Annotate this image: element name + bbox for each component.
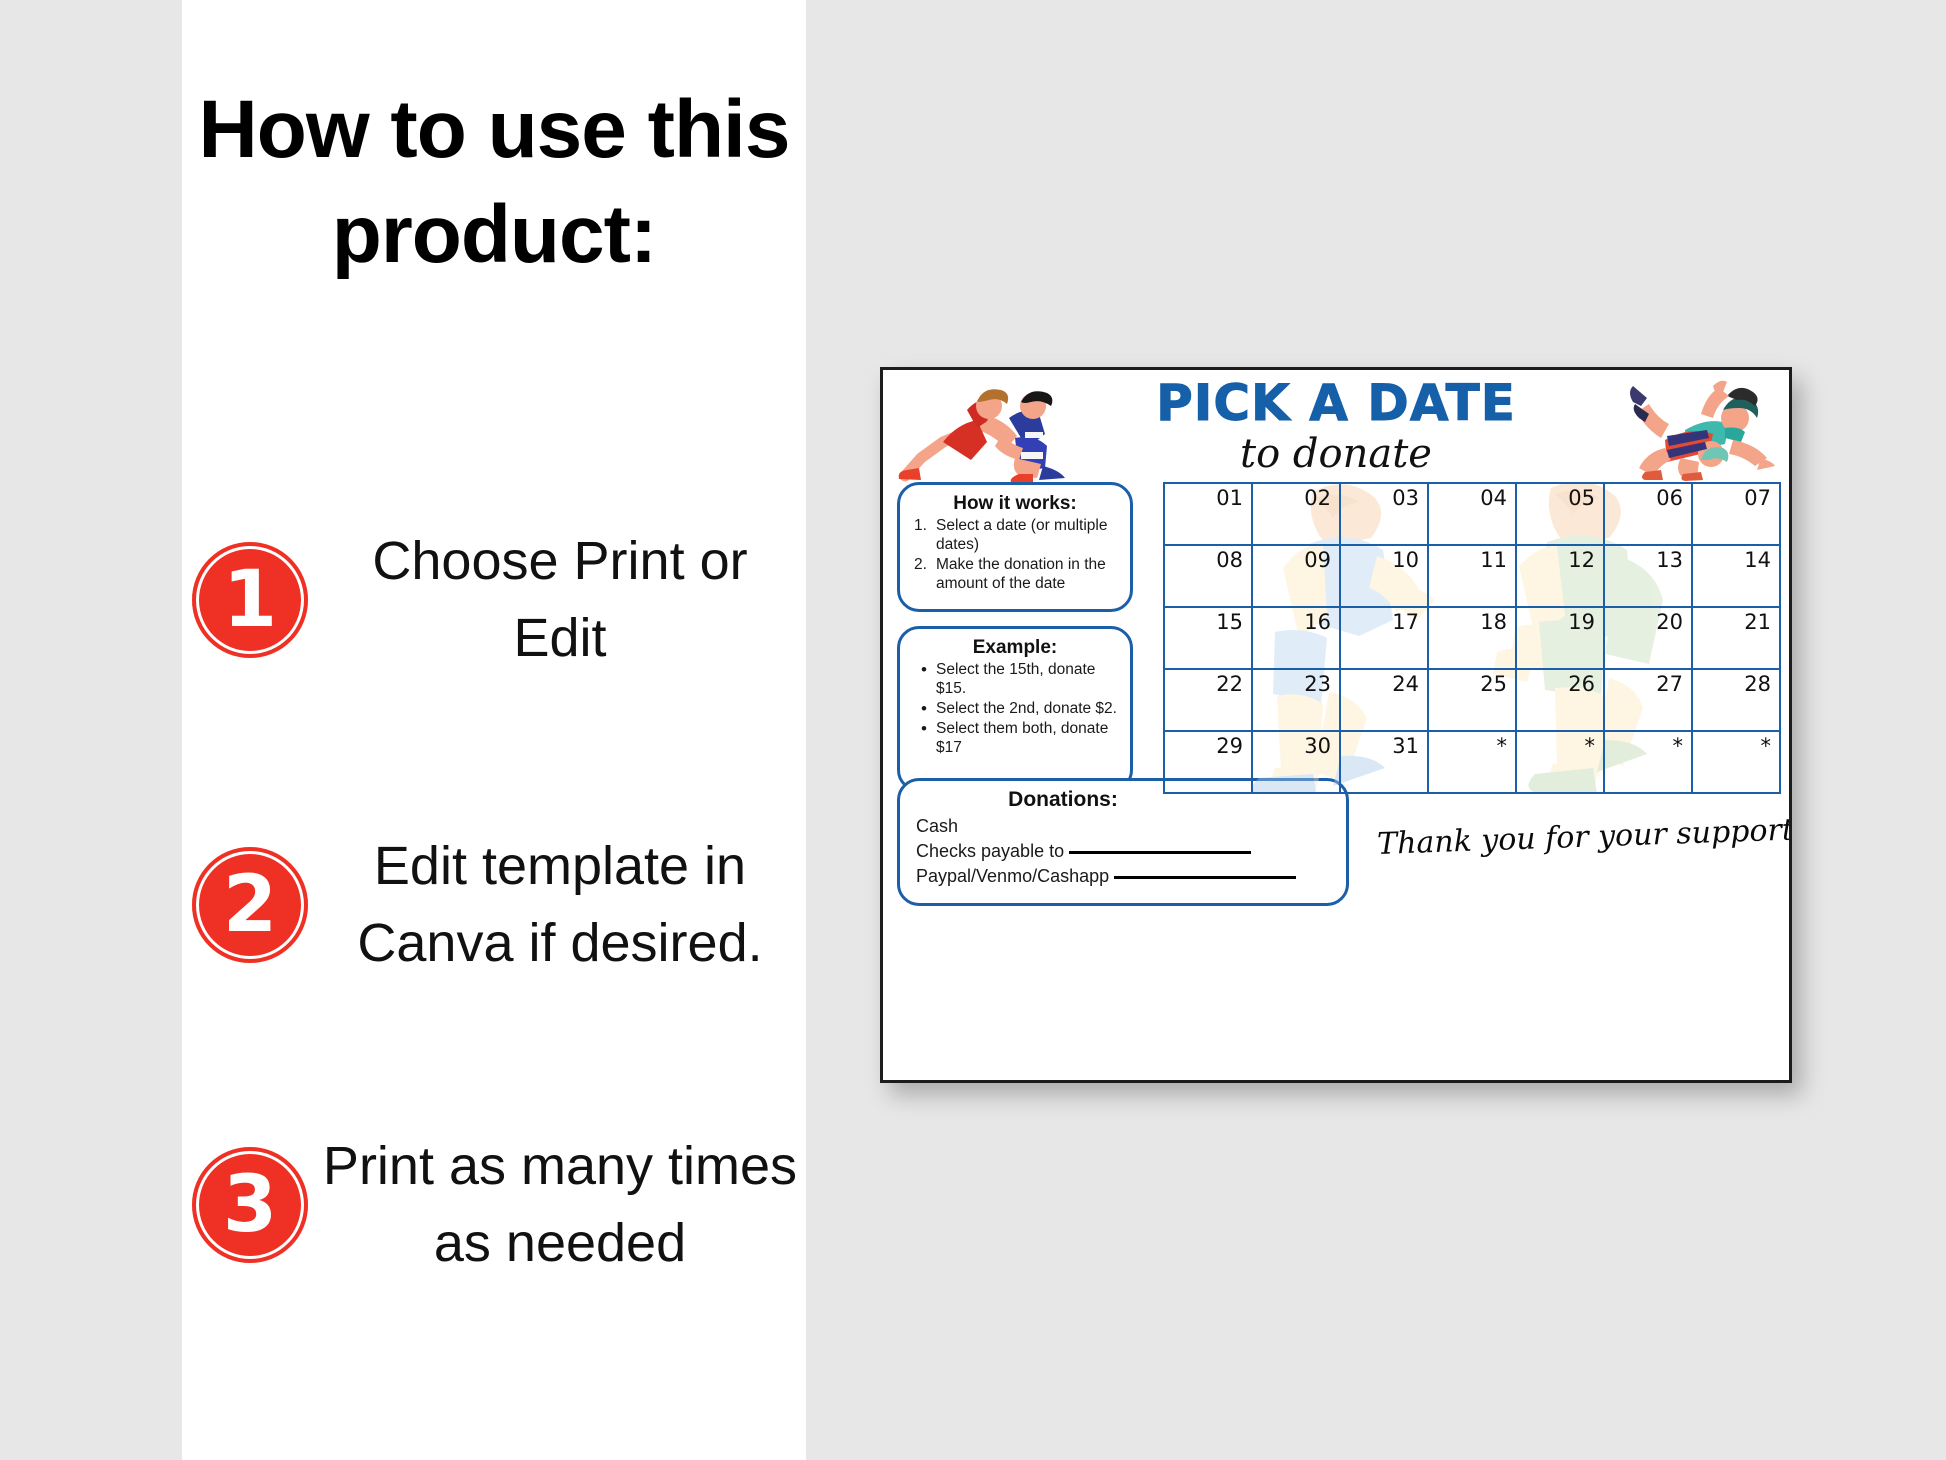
step-number-badge-3: 3 <box>192 1147 308 1263</box>
instruction-step-2: 2 Edit template in Canva if desired. <box>182 760 806 1050</box>
digital-label: Paypal/Venmo/Cashapp <box>916 866 1109 886</box>
list-text: Select a date (or multiple dates) <box>936 517 1107 553</box>
example-list: • Select the 15th, donate $15. • Select … <box>912 661 1118 758</box>
list-marker: • <box>921 699 927 720</box>
calendar-cell[interactable]: 08 <box>1165 546 1253 608</box>
thank-you-message: Thank you for your support! <box>1377 813 1778 862</box>
calendar-cell[interactable]: 26 <box>1517 670 1605 732</box>
how-it-works-box: How it works: 1. Select a date (or multi… <box>897 482 1133 612</box>
calendar-cell[interactable]: 27 <box>1605 670 1693 732</box>
step-text-3: Print as many times as needed <box>308 1128 806 1281</box>
calendar-cell[interactable]: 07 <box>1693 484 1781 546</box>
calendar-cell[interactable]: 05 <box>1517 484 1605 546</box>
list-item: • Select them both, donate $17 <box>912 720 1118 758</box>
list-marker: • <box>921 660 927 681</box>
checks-blank-line[interactable] <box>1069 851 1251 854</box>
calendar-cell[interactable]: 18 <box>1429 608 1517 670</box>
list-marker: 2. <box>914 556 927 575</box>
calendar-cell[interactable]: 29 <box>1165 732 1253 794</box>
calendar-cell[interactable]: 22 <box>1165 670 1253 732</box>
how-it-works-list: 1. Select a date (or multiple dates) 2. … <box>912 517 1118 594</box>
step-text-1: Choose Print or Edit <box>308 523 806 676</box>
calendar-cell[interactable]: 11 <box>1429 546 1517 608</box>
calendar-cell[interactable]: 10 <box>1341 546 1429 608</box>
calendar-cell[interactable]: 12 <box>1517 546 1605 608</box>
calendar-cell[interactable]: 06 <box>1605 484 1693 546</box>
calendar-cell[interactable]: 04 <box>1429 484 1517 546</box>
list-text: Select the 2nd, donate $2. <box>936 700 1117 717</box>
flyer-footer: Donations: Cash Checks payable to Paypal… <box>883 772 1789 944</box>
list-item: 2. Make the donation in the amount of th… <box>912 556 1118 594</box>
step-number-badge-2: 2 <box>192 847 308 963</box>
calendar-cell[interactable]: * <box>1605 732 1693 794</box>
calendar-cell[interactable]: 19 <box>1517 608 1605 670</box>
donation-calendar-grid[interactable]: 01 02 03 04 05 06 07 08 09 10 11 12 13 1… <box>1163 482 1781 794</box>
donation-method-digital: Paypal/Venmo/Cashapp <box>916 866 1330 887</box>
wrestlers-throw-icon <box>1629 378 1781 487</box>
donation-method-checks: Checks payable to <box>916 841 1330 862</box>
calendar-cell[interactable]: 20 <box>1605 608 1693 670</box>
list-text: Select the 15th, donate $15. <box>936 661 1095 697</box>
instruction-step-1: 1 Choose Print or Edit <box>182 500 806 700</box>
calendar-cell[interactable]: 15 <box>1165 608 1253 670</box>
calendar-cell[interactable]: * <box>1693 732 1781 794</box>
calendar-cell[interactable]: 25 <box>1429 670 1517 732</box>
calendar-cell[interactable]: 30 <box>1253 732 1341 794</box>
flyer-subtitle: to donate <box>1126 432 1546 476</box>
calendar-cell[interactable]: * <box>1429 732 1517 794</box>
flyer-title: PICK A DATE <box>1126 378 1546 428</box>
list-text: Make the donation in the amount of the d… <box>936 556 1106 592</box>
list-marker: 1. <box>914 517 927 536</box>
flyer-body: How it works: 1. Select a date (or multi… <box>883 482 1789 772</box>
calendar-cell[interactable]: 16 <box>1253 608 1341 670</box>
calendar-cell[interactable]: * <box>1517 732 1605 794</box>
calendar-cell[interactable]: 28 <box>1693 670 1781 732</box>
calendar-cell[interactable]: 01 <box>1165 484 1253 546</box>
example-box: Example: • Select the 15th, donate $15. … <box>897 626 1133 792</box>
calendar-cell[interactable]: 03 <box>1341 484 1429 546</box>
calendar-cell[interactable]: 31 <box>1341 732 1429 794</box>
calendar-cell[interactable]: 21 <box>1693 608 1781 670</box>
donation-method-cash: Cash <box>916 816 1330 837</box>
flyer-preview-card: PICK A DATE to donate <box>880 367 1792 1083</box>
flyer-header: PICK A DATE to donate <box>883 370 1789 482</box>
list-marker: • <box>921 719 927 740</box>
instructions-panel: How to use this product: 1 Choose Print … <box>182 0 806 1460</box>
digital-blank-line[interactable] <box>1114 876 1296 879</box>
list-text: Select them both, donate $17 <box>936 720 1108 756</box>
calendar-cell[interactable]: 09 <box>1253 546 1341 608</box>
example-title: Example: <box>912 637 1118 659</box>
how-it-works-title: How it works: <box>912 493 1118 515</box>
step-text-2: Edit template in Canva if desired. <box>308 828 806 981</box>
list-item: • Select the 2nd, donate $2. <box>912 700 1118 719</box>
flyer-title-block: PICK A DATE to donate <box>1126 378 1546 476</box>
wrestlers-takedown-icon <box>897 380 1073 489</box>
checks-label: Checks payable to <box>916 841 1064 861</box>
donations-box: Donations: Cash Checks payable to Paypal… <box>897 778 1349 906</box>
page-title: How to use this product: <box>182 78 806 288</box>
calendar-cell[interactable]: 23 <box>1253 670 1341 732</box>
step-number-badge-1: 1 <box>192 542 308 658</box>
calendar-cell[interactable]: 24 <box>1341 670 1429 732</box>
instruction-step-3: 3 Print as many times as needed <box>182 1060 806 1350</box>
calendar-cell[interactable]: 14 <box>1693 546 1781 608</box>
calendar-cell[interactable]: 13 <box>1605 546 1693 608</box>
list-item: • Select the 15th, donate $15. <box>912 661 1118 699</box>
calendar-cell[interactable]: 17 <box>1341 608 1429 670</box>
list-item: 1. Select a date (or multiple dates) <box>912 517 1118 555</box>
calendar-cell[interactable]: 02 <box>1253 484 1341 546</box>
